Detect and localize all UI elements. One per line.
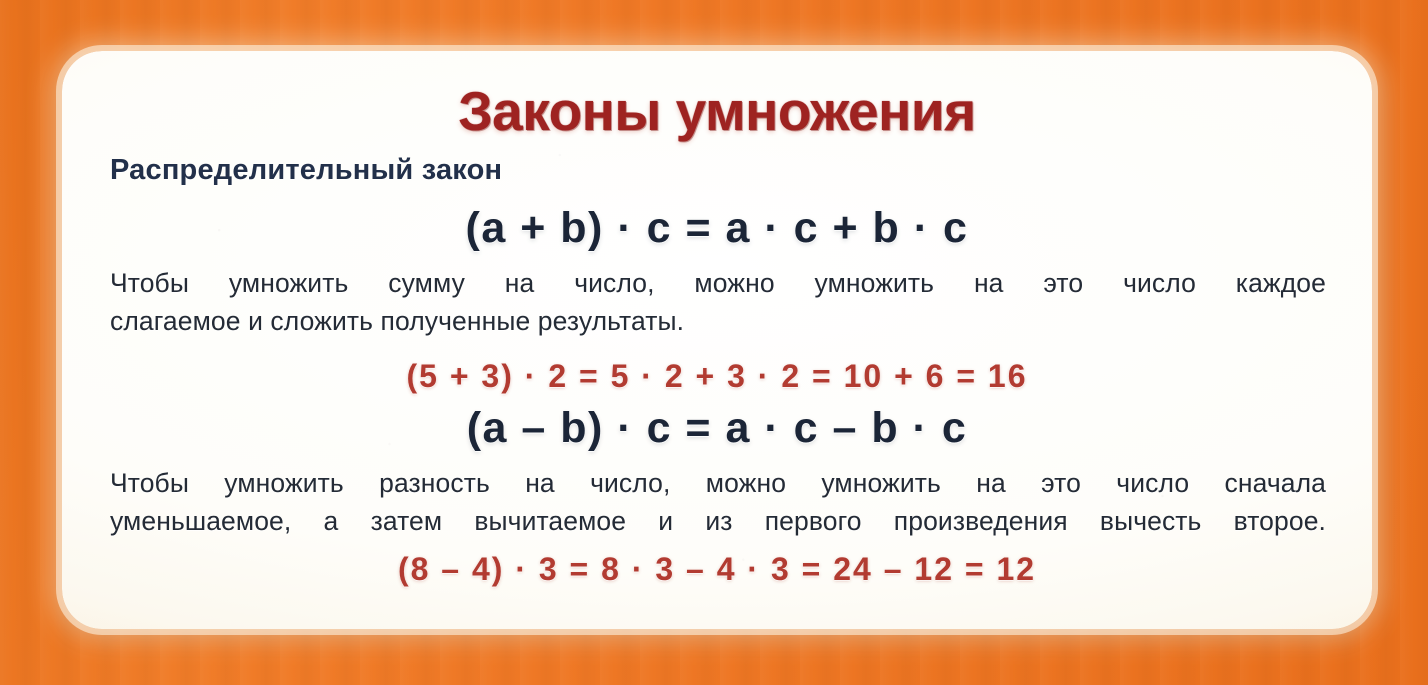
content-card: Законы умножения Распределительный закон… — [62, 51, 1372, 629]
example-subtraction: (8 – 4) · 3 = 8 · 3 – 4 · 3 = 24 – 12 = … — [62, 551, 1372, 588]
formula-distributive-subtraction: (a – b) · c = a · c – b · c — [62, 404, 1372, 453]
description-addition-line-2: слагаемое и сложить полученные результат… — [110, 302, 1326, 340]
formula-distributive-addition: (a + b) · c = a · c + b · c — [62, 204, 1372, 253]
description-subtraction-line-1: Чтобы умножить разность на число, можно … — [110, 464, 1326, 502]
page-title: Законы умножения — [62, 79, 1372, 143]
example-addition: (5 + 3) · 2 = 5 · 2 + 3 · 2 = 10 + 6 = 1… — [62, 358, 1372, 395]
description-addition: Чтобы умножить сумму на число, можно умн… — [110, 264, 1326, 340]
law-subtitle: Распределительный закон — [110, 154, 502, 187]
description-subtraction: Чтобы умножить разность на число, можно … — [110, 464, 1326, 540]
description-subtraction-line-2: уменьшаемое, а затем вычитаемое и из пер… — [110, 502, 1326, 540]
poster-background: Законы умножения Распределительный закон… — [0, 0, 1428, 685]
description-addition-line-1: Чтобы умножить сумму на число, можно умн… — [110, 264, 1326, 302]
card-content: Законы умножения Распределительный закон… — [62, 51, 1372, 629]
